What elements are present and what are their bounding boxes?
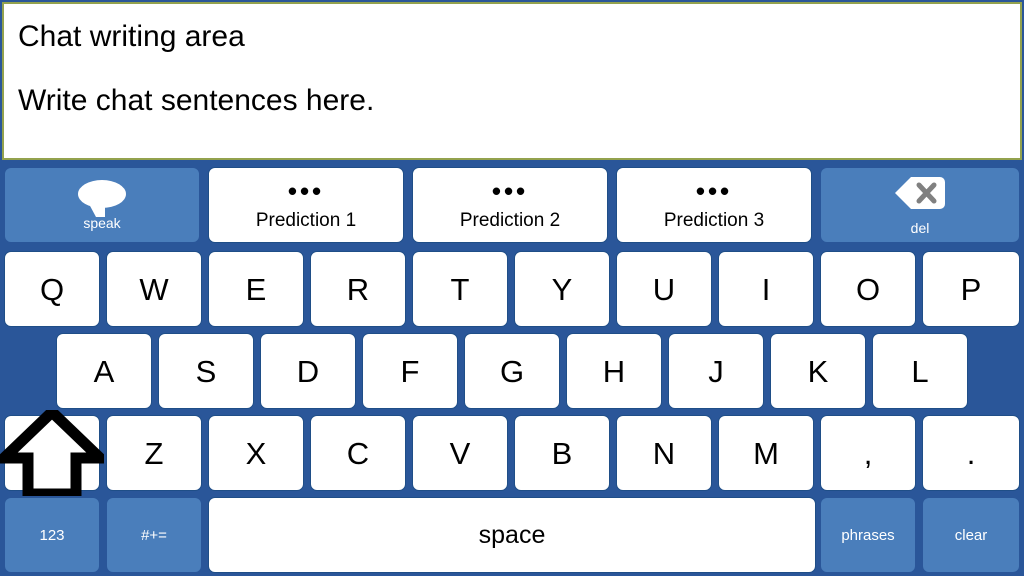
chat-writing-area[interactable]: Chat writing area Write chat sentences h… — [2, 2, 1022, 160]
key-label: X — [246, 438, 267, 469]
key-label: P — [961, 274, 982, 305]
speak-button-label: speak — [83, 216, 120, 230]
key-period[interactable]: . — [922, 415, 1020, 491]
shift-key[interactable] — [4, 415, 100, 491]
key-b[interactable]: B — [514, 415, 610, 491]
key-label: B — [552, 438, 573, 469]
key-label: G — [500, 356, 524, 387]
numbers-key-label: 123 — [39, 527, 64, 544]
speak-button[interactable]: speak — [4, 167, 200, 243]
key-l[interactable]: L — [872, 333, 968, 409]
key-r[interactable]: R — [310, 251, 406, 327]
key-e[interactable]: E — [208, 251, 304, 327]
prediction-1-button[interactable]: ••• Prediction 1 — [208, 167, 404, 243]
key-label: R — [347, 274, 369, 305]
ellipsis-icon: ••• — [696, 178, 732, 204]
delete-button-label: del — [911, 221, 930, 235]
numbers-key[interactable]: 123 — [4, 497, 100, 573]
key-w[interactable]: W — [106, 251, 202, 327]
key-label: F — [401, 356, 420, 387]
keyboard-bottom-row: 123 #+= space phrases clear — [0, 494, 1024, 576]
key-g[interactable]: G — [464, 333, 560, 409]
key-label: E — [246, 274, 267, 305]
key-label: Z — [145, 438, 164, 469]
key-d[interactable]: D — [260, 333, 356, 409]
prediction-3-label: Prediction 3 — [664, 210, 764, 232]
key-label: Y — [552, 274, 573, 305]
chat-area-title: Chat writing area — [18, 22, 1006, 52]
key-label: L — [911, 356, 928, 387]
key-f[interactable]: F — [362, 333, 458, 409]
key-v[interactable]: V — [412, 415, 508, 491]
shift-arrow-icon — [0, 410, 104, 496]
prediction-3-button[interactable]: ••• Prediction 3 — [616, 167, 812, 243]
keyboard-top-row: speak ••• Prediction 1 ••• Prediction 2 … — [0, 164, 1024, 246]
key-j[interactable]: J — [668, 333, 764, 409]
ellipsis-icon: ••• — [492, 178, 528, 204]
key-k[interactable]: K — [770, 333, 866, 409]
chat-area-instruction: Write chat sentences here. — [18, 86, 1006, 116]
key-label: A — [94, 356, 115, 387]
speech-bubble-icon — [78, 180, 126, 208]
key-label: W — [139, 274, 168, 305]
symbols-key-label: #+= — [141, 527, 167, 544]
key-c[interactable]: C — [310, 415, 406, 491]
key-o[interactable]: O — [820, 251, 916, 327]
key-z[interactable]: Z — [106, 415, 202, 491]
key-label: T — [451, 274, 470, 305]
key-label: , — [864, 438, 873, 469]
key-label: Q — [40, 274, 64, 305]
key-x[interactable]: X — [208, 415, 304, 491]
key-label: U — [653, 274, 675, 305]
key-a[interactable]: A — [56, 333, 152, 409]
key-label: J — [708, 356, 724, 387]
key-s[interactable]: S — [158, 333, 254, 409]
clear-key-label: clear — [955, 527, 988, 544]
key-y[interactable]: Y — [514, 251, 610, 327]
ellipsis-icon: ••• — [288, 178, 324, 204]
clear-key[interactable]: clear — [922, 497, 1020, 573]
keyboard-row-qwerty: Q W E R T Y U I O P — [0, 248, 1024, 330]
keyboard-row-asdf: A S D F G H J K L — [0, 330, 1024, 412]
symbols-key[interactable]: #+= — [106, 497, 202, 573]
key-label: K — [808, 356, 829, 387]
key-n[interactable]: N — [616, 415, 712, 491]
key-label: S — [196, 356, 217, 387]
keyboard: speak ••• Prediction 1 ••• Prediction 2 … — [0, 164, 1024, 576]
key-label: V — [450, 438, 471, 469]
key-h[interactable]: H — [566, 333, 662, 409]
prediction-1-label: Prediction 1 — [256, 210, 356, 232]
key-q[interactable]: Q — [4, 251, 100, 327]
key-label: M — [753, 438, 779, 469]
key-p[interactable]: P — [922, 251, 1020, 327]
key-u[interactable]: U — [616, 251, 712, 327]
keyboard-row-zxcv: Z X C V B N M , . — [0, 412, 1024, 494]
delete-button[interactable]: del — [820, 167, 1020, 243]
key-label: . — [967, 438, 976, 469]
key-i[interactable]: I — [718, 251, 814, 327]
aac-keyboard-app: Chat writing area Write chat sentences h… — [0, 0, 1024, 576]
key-label: H — [603, 356, 625, 387]
prediction-2-button[interactable]: ••• Prediction 2 — [412, 167, 608, 243]
key-label: I — [762, 274, 771, 305]
space-key-label: space — [479, 521, 546, 550]
key-comma[interactable]: , — [820, 415, 916, 491]
key-label: D — [297, 356, 319, 387]
key-m[interactable]: M — [718, 415, 814, 491]
key-t[interactable]: T — [412, 251, 508, 327]
phrases-key-label: phrases — [841, 527, 894, 544]
key-label: N — [653, 438, 675, 469]
prediction-2-label: Prediction 2 — [460, 210, 560, 232]
backspace-icon — [893, 176, 947, 215]
space-key[interactable]: space — [208, 497, 816, 573]
phrases-key[interactable]: phrases — [820, 497, 916, 573]
key-label: C — [347, 438, 369, 469]
key-label: O — [856, 274, 880, 305]
